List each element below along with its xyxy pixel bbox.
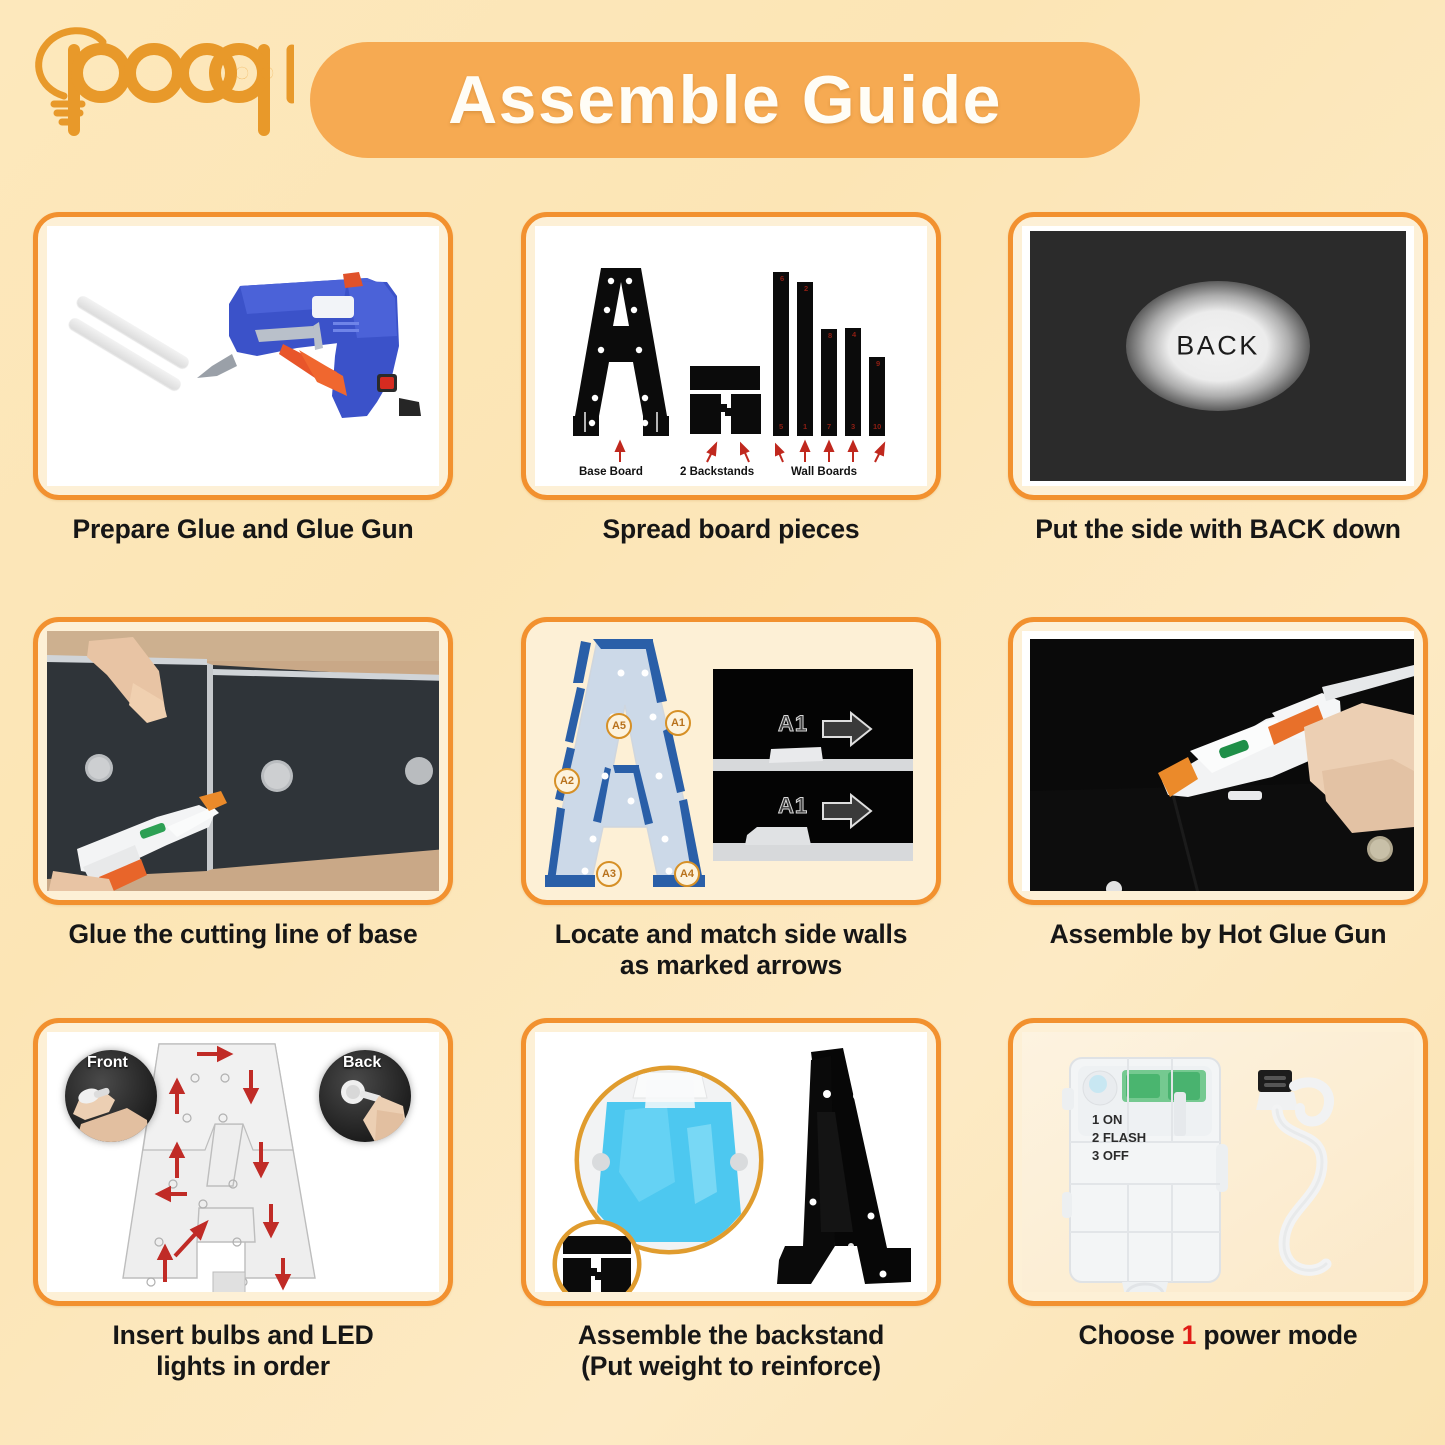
hot-glue-gun-assembly-photo bbox=[1022, 631, 1414, 891]
battery-box-and-usb-cable-photo: 1 ON 2 FLASH 3 OFF bbox=[1022, 1032, 1414, 1292]
board-pieces-diagram: 6 2 8 4 9 5 1 7 3 10 Base Board 2 Backst… bbox=[535, 226, 927, 486]
page-title-banner: Assemble Guide bbox=[310, 42, 1140, 158]
dark-board-surface: BACK bbox=[1030, 231, 1406, 481]
step-8-caption-line-1: Assemble the backstand bbox=[521, 1320, 941, 1351]
bulb-insertion-order-diagram: Front Back bbox=[47, 1032, 439, 1292]
steps-grid: Prepare Glue and Glue Gun bbox=[0, 200, 1445, 1445]
base-board-letter-a-shape bbox=[535, 226, 927, 486]
letter-a-side-wall-markers-diagram: A1 A1 A1 A2 A3 A4 A5 bbox=[535, 631, 927, 891]
step-5-caption-line-2: as marked arrows bbox=[521, 950, 941, 981]
assemble-guide-page: Assemble Guide bbox=[0, 0, 1445, 1445]
gluing-base-cut-line-photo bbox=[47, 631, 439, 891]
power-mode-2: 2 FLASH bbox=[1092, 1130, 1146, 1145]
lightbulb-icon bbox=[24, 18, 294, 138]
step-9-caption-highlight: 1 bbox=[1182, 1320, 1197, 1350]
step-8-caption: Assemble the backstand (Put weight to re… bbox=[521, 1320, 941, 1383]
backstand-and-weight-illustration bbox=[535, 1032, 927, 1292]
step-card-2: 6 2 8 4 9 5 1 7 3 10 Base Board 2 Backst… bbox=[521, 212, 941, 545]
battery-box-illustration bbox=[1022, 1032, 1414, 1292]
step-3-frame: BACK bbox=[1008, 212, 1428, 500]
marker-a5: A5 bbox=[606, 713, 632, 739]
wall-board-number: 6 bbox=[780, 274, 784, 283]
step-1-frame bbox=[33, 212, 453, 500]
step-card-8: Assemble the backstand (Put weight to re… bbox=[521, 1018, 941, 1383]
step-card-1: Prepare Glue and Glue Gun bbox=[33, 212, 453, 545]
step-1-caption: Prepare Glue and Glue Gun bbox=[33, 514, 453, 545]
backstand-assembly-photo bbox=[535, 1032, 927, 1292]
back-side-photo: BACK bbox=[1022, 226, 1414, 486]
step-2-frame: 6 2 8 4 9 5 1 7 3 10 Base Board 2 Backst… bbox=[521, 212, 941, 500]
marker-a4: A4 bbox=[674, 861, 700, 887]
wall-board-number: 1 bbox=[803, 422, 807, 431]
brand-logo bbox=[24, 18, 294, 138]
letter-a-with-blue-walls bbox=[535, 631, 927, 891]
step-4-caption: Glue the cutting line of base bbox=[33, 919, 453, 950]
marker-a2: A2 bbox=[554, 768, 580, 794]
step-2-caption: Spread board pieces bbox=[521, 514, 941, 545]
base-board-label: Base Board bbox=[579, 466, 643, 478]
backstands-label: 2 Backstands bbox=[680, 466, 754, 478]
page-title: Assemble Guide bbox=[448, 61, 1002, 139]
a1-arrow-label-top: A1 bbox=[778, 711, 808, 737]
step-9-caption-suffix: power mode bbox=[1196, 1320, 1357, 1350]
wall-board-number: 9 bbox=[876, 359, 880, 368]
wall-board-number: 5 bbox=[779, 422, 783, 431]
step-4-frame bbox=[33, 617, 453, 905]
front-label: Front bbox=[87, 1054, 128, 1072]
step-card-7: Front Back Insert bulbs and LED bbox=[33, 1018, 453, 1383]
step-card-3: BACK Put the side with BACK down bbox=[1008, 212, 1428, 545]
back-text: BACK bbox=[1176, 331, 1260, 362]
wall-boards-label: Wall Boards bbox=[791, 466, 857, 478]
wall-board-number: 10 bbox=[873, 422, 881, 431]
wall-board-number: 2 bbox=[804, 284, 808, 293]
step-5-caption: Locate and match side walls as marked ar… bbox=[521, 919, 941, 982]
step-6-caption: Assemble by Hot Glue Gun bbox=[1008, 919, 1428, 950]
a1-arrow-label-bottom: A1 bbox=[778, 793, 808, 819]
step-7-caption-line-1: Insert bulbs and LED bbox=[33, 1320, 453, 1351]
marker-a3: A3 bbox=[596, 861, 622, 887]
gluing-scene-illustration bbox=[47, 631, 439, 891]
back-label: Back bbox=[343, 1054, 381, 1072]
step-8-caption-line-2: (Put weight to reinforce) bbox=[521, 1351, 941, 1382]
step-5-caption-line-1: Locate and match side walls bbox=[521, 919, 941, 950]
step-9-caption-prefix: Choose bbox=[1079, 1320, 1182, 1350]
marker-a1: A1 bbox=[665, 710, 691, 736]
step-7-frame: Front Back bbox=[33, 1018, 453, 1306]
step-9-caption: Choose 1 power mode bbox=[1008, 1320, 1428, 1351]
step-7-caption-line-2: lights in order bbox=[33, 1351, 453, 1382]
wall-board-number: 8 bbox=[828, 331, 832, 340]
wall-board-number: 4 bbox=[852, 330, 856, 339]
wall-board-number: 7 bbox=[827, 422, 831, 431]
page-header: Assemble Guide bbox=[0, 0, 1445, 200]
step-card-6: Assemble by Hot Glue Gun bbox=[1008, 617, 1428, 950]
wall-board-number: 3 bbox=[851, 422, 855, 431]
step-card-9: 1 ON 2 FLASH 3 OFF Choose 1 power mode bbox=[1008, 1018, 1428, 1351]
step-card-4: Glue the cutting line of base bbox=[33, 617, 453, 950]
hot-glue-gun-scene bbox=[1022, 631, 1414, 891]
step-8-frame bbox=[521, 1018, 941, 1306]
step-card-5: A1 A1 A1 A2 A3 A4 A5 Locate and match si… bbox=[521, 617, 941, 982]
glue-gun-and-glue-sticks-photo bbox=[47, 226, 439, 486]
step-5-frame: A1 A1 A1 A2 A3 A4 A5 bbox=[521, 617, 941, 905]
step-7-caption: Insert bulbs and LED lights in order bbox=[33, 1320, 453, 1383]
power-mode-3: 3 OFF bbox=[1092, 1148, 1129, 1163]
glue-gun-icon bbox=[47, 226, 439, 486]
step-9-frame: 1 ON 2 FLASH 3 OFF bbox=[1008, 1018, 1428, 1306]
step-6-frame bbox=[1008, 617, 1428, 905]
power-mode-1: 1 ON bbox=[1092, 1112, 1122, 1127]
step-3-caption: Put the side with BACK down bbox=[1008, 514, 1428, 545]
